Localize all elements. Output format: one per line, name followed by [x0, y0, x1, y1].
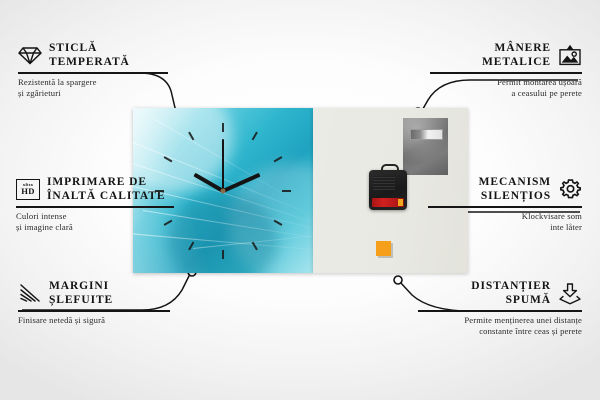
gear-icon: [558, 179, 582, 201]
mechanism-grille: [373, 176, 395, 190]
infographic-canvas: STICLĂ TEMPERATĂ Rezistentă la spargere …: [0, 0, 600, 400]
hanger-slot: [410, 129, 443, 140]
endpoint-spacer: [394, 276, 402, 284]
callout-tempered-glass: STICLĂ TEMPERATĂ Rezistentă la spargere …: [18, 42, 168, 99]
callout-sub-line1: Permit montarea ușoară: [497, 77, 582, 87]
callout-sub-line1: Culori intense: [16, 211, 67, 221]
clock-mechanism: [369, 170, 407, 210]
callout-title-line1: MÂNERE: [494, 42, 551, 54]
callout-title-line1: IMPRIMARE DE: [47, 176, 147, 188]
battery: [372, 198, 404, 207]
callout-sub-line2: și zgârieturi: [18, 88, 61, 98]
callout-title-line2: ÎNALTĂ CALITATE: [47, 190, 165, 202]
callout-sub-line2: și imagine clară: [16, 222, 73, 232]
callout-metal-handles: MÂNERE METALICE Permit montarea ușoară a…: [430, 42, 582, 99]
callout-title-line1: DISTANȚIER: [471, 280, 551, 292]
callout-sub-line1: Klockvisare som: [522, 211, 582, 221]
callout-title-line1: STICLĂ: [49, 42, 97, 54]
divider: [418, 310, 582, 311]
callout-title-line2: SPUMĂ: [506, 294, 551, 306]
callout-sub-line2: a ceasului pe perete: [511, 88, 582, 98]
callout-sub-line2: constante între ceas și perete: [479, 326, 582, 336]
mechanism-hook: [381, 164, 399, 175]
foam-spacer: [376, 241, 391, 256]
callout-sub-line1: Permite menținerea unei distanțe: [464, 315, 582, 325]
callout-sub-line1: Finisare netedă și sigură: [18, 315, 105, 325]
callout-silent-mechanism: MECANISM SILENȚIOS Klockvisare som inte …: [428, 176, 582, 233]
callout-title-line1: MARGINI: [49, 280, 109, 292]
diamond-icon: [18, 45, 42, 67]
callout-title-line2: METALICE: [482, 56, 551, 68]
divider: [430, 72, 582, 73]
divider: [16, 206, 174, 207]
diagonal-lines-icon: [18, 283, 42, 305]
down-arrow-stack-icon: [558, 283, 582, 305]
clock-center-pin: [221, 188, 226, 193]
callout-title-line2: ȘLEFUITE: [49, 294, 113, 306]
divider: [18, 72, 168, 73]
callout-sub-line1: Rezistentă la spargere: [18, 77, 97, 87]
callout-foam-spacer: DISTANȚIER SPUMĂ Permite menținerea unei…: [418, 280, 582, 337]
callout-title-line2: SILENȚIOS: [481, 190, 551, 202]
callout-sub-line2: inte låter: [550, 222, 582, 232]
callout-high-quality-print: ultra HD IMPRIMARE DE ÎNALTĂ CALITATE Cu…: [16, 176, 174, 233]
ultra-hd-icon: ultra HD: [16, 179, 40, 201]
battery-terminal: [398, 199, 403, 206]
divider: [428, 206, 582, 207]
product-photo: [133, 108, 468, 273]
clock-second-hand: [222, 139, 224, 191]
callout-polished-edges: MARGINI ȘLEFUITE Finisare netedă și sigu…: [18, 280, 170, 326]
metal-hanger-swatch: [403, 118, 448, 175]
picture-frame-icon: [558, 45, 582, 67]
ultra-hd-icon-main-label: HD: [21, 187, 35, 196]
divider: [18, 310, 170, 311]
callout-title-line1: MECANISM: [479, 176, 551, 188]
callout-title-line2: TEMPERATĂ: [49, 56, 130, 68]
